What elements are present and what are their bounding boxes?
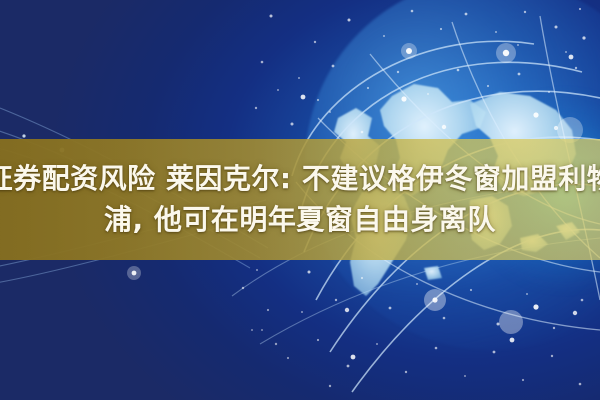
headline-text-block: 证券配资风险 莱因克尔: 不建议格伊冬窗加盟利物 浦, 他可在明年夏窗自由身离队 <box>0 139 600 260</box>
headline-line-2: 浦, 他可在明年夏窗自由身离队 <box>104 203 496 237</box>
news-banner-image: 证券配资风险 莱因克尔: 不建议格伊冬窗加盟利物 浦, 他可在明年夏窗自由身离队 <box>0 0 600 400</box>
headline-line-1: 证券配资风险 莱因克尔: 不建议格伊冬窗加盟利物 <box>0 162 600 196</box>
